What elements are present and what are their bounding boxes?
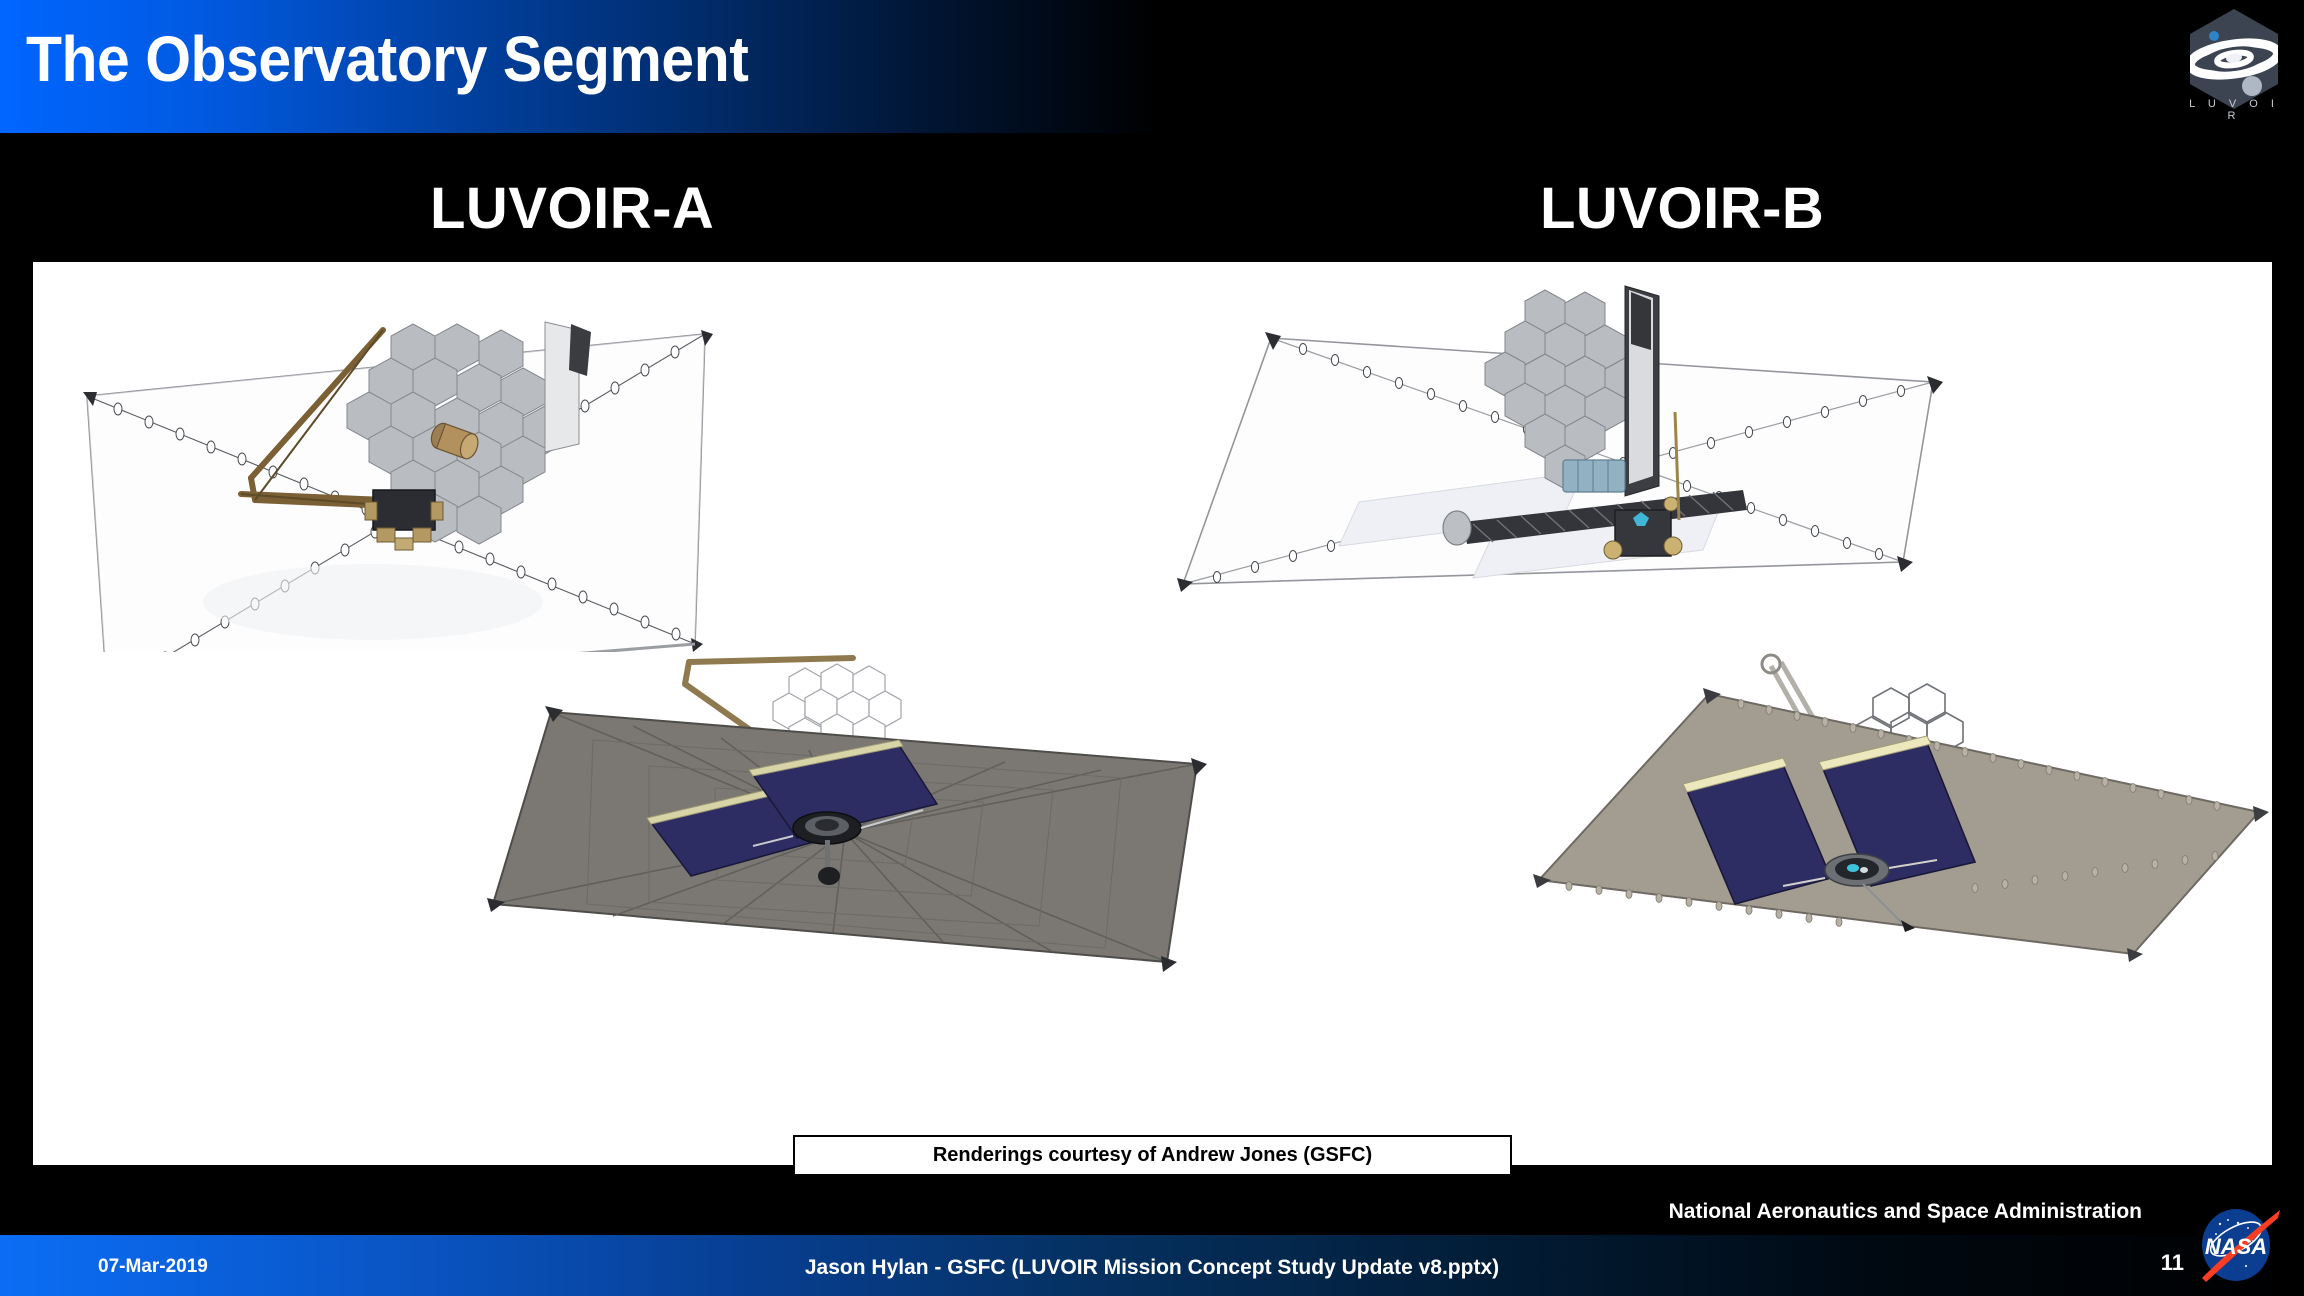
caption-box: Renderings courtesy of Andrew Jones (GSF… <box>793 1135 1512 1176</box>
agency-name: National Aeronautics and Space Administr… <box>1669 1200 2142 1224</box>
render-luvoir-a-underside <box>453 632 1213 982</box>
footer-date: 07-Mar-2019 <box>98 1256 208 1278</box>
render-luvoir-b-underside <box>1513 642 2303 982</box>
page-title: The Observatory Segment <box>26 22 748 96</box>
render-luvoir-a-top-view <box>73 272 753 652</box>
page-number: 11 <box>2161 1250 2184 1276</box>
luvoir-logo-icon <box>2182 6 2286 112</box>
column-heading-luvoir-b: LUVOIR-B <box>1540 175 1824 242</box>
renderings-panel <box>33 262 2272 1165</box>
footer-author-file: Jason Hylan - GSFC (LUVOIR Mission Conce… <box>805 1256 1499 1280</box>
render-luvoir-b-top-view <box>1163 272 1953 652</box>
column-heading-luvoir-a: LUVOIR-A <box>430 175 714 242</box>
slide-root: The Observatory Segment L U V O I R LUVO… <box>0 0 2304 1296</box>
nasa-meatball-icon: NASA <box>2190 1206 2282 1284</box>
luvoir-wordmark: L U V O I R <box>2182 98 2286 122</box>
svg-text:NASA: NASA <box>2205 1234 2267 1259</box>
caption-text: Renderings courtesy of Andrew Jones (GSF… <box>933 1144 1372 1167</box>
